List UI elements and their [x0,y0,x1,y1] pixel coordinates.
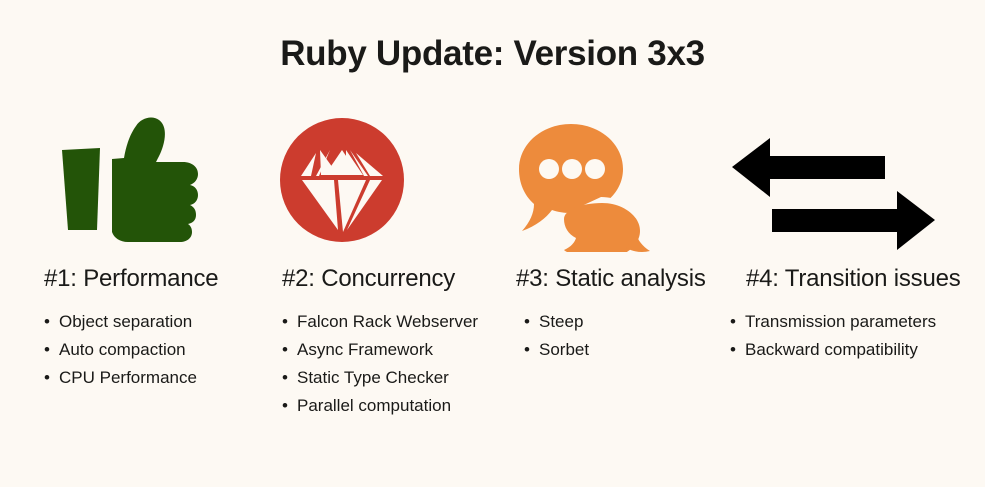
list-item: Transmission parameters [730,308,936,336]
feature-list: Falcon Rack Webserver Async Framework St… [282,308,478,420]
column-heading: #2: Concurrency [282,265,455,293]
feature-list: Transmission parameters Backward compati… [730,308,936,364]
feature-list: Steep Sorbet [524,308,589,364]
list-item: Parallel computation [282,392,478,420]
page-title: Ruby Update: Version 3x3 [0,34,985,74]
column-heading: #4: Transition issues [746,265,961,293]
list-item: Object separation [44,308,197,336]
list-item: CPU Performance [44,364,197,392]
list-item: Steep [524,308,589,336]
feature-column-performance: #1: Performance Object separation Auto c… [42,112,257,252]
feature-column-static-analysis: #3: Static analysis Steep Sorbet [508,112,708,252]
list-item: Static Type Checker [282,364,478,392]
feature-column-transition-issues: #4: Transition issues Transmission param… [722,112,962,252]
list-item: Async Framework [282,336,478,364]
speech-bubbles-icon [508,112,708,252]
column-heading: #1: Performance [44,265,218,293]
feature-column-concurrency: #2: Concurrency Falcon Rack Webserver As… [272,112,497,252]
slide-canvas: Ruby Update: Version 3x3 #1: Performance… [0,0,985,487]
column-heading: #3: Static analysis [516,265,706,293]
list-item: Falcon Rack Webserver [282,308,478,336]
ruby-diamond-icon [272,112,497,252]
list-item: Auto compaction [44,336,197,364]
transfer-arrows-icon [722,112,962,252]
list-item: Backward compatibility [730,336,936,364]
feature-list: Object separation Auto compaction CPU Pe… [44,308,197,392]
thumbs-up-icon [42,112,257,252]
list-item: Sorbet [524,336,589,364]
